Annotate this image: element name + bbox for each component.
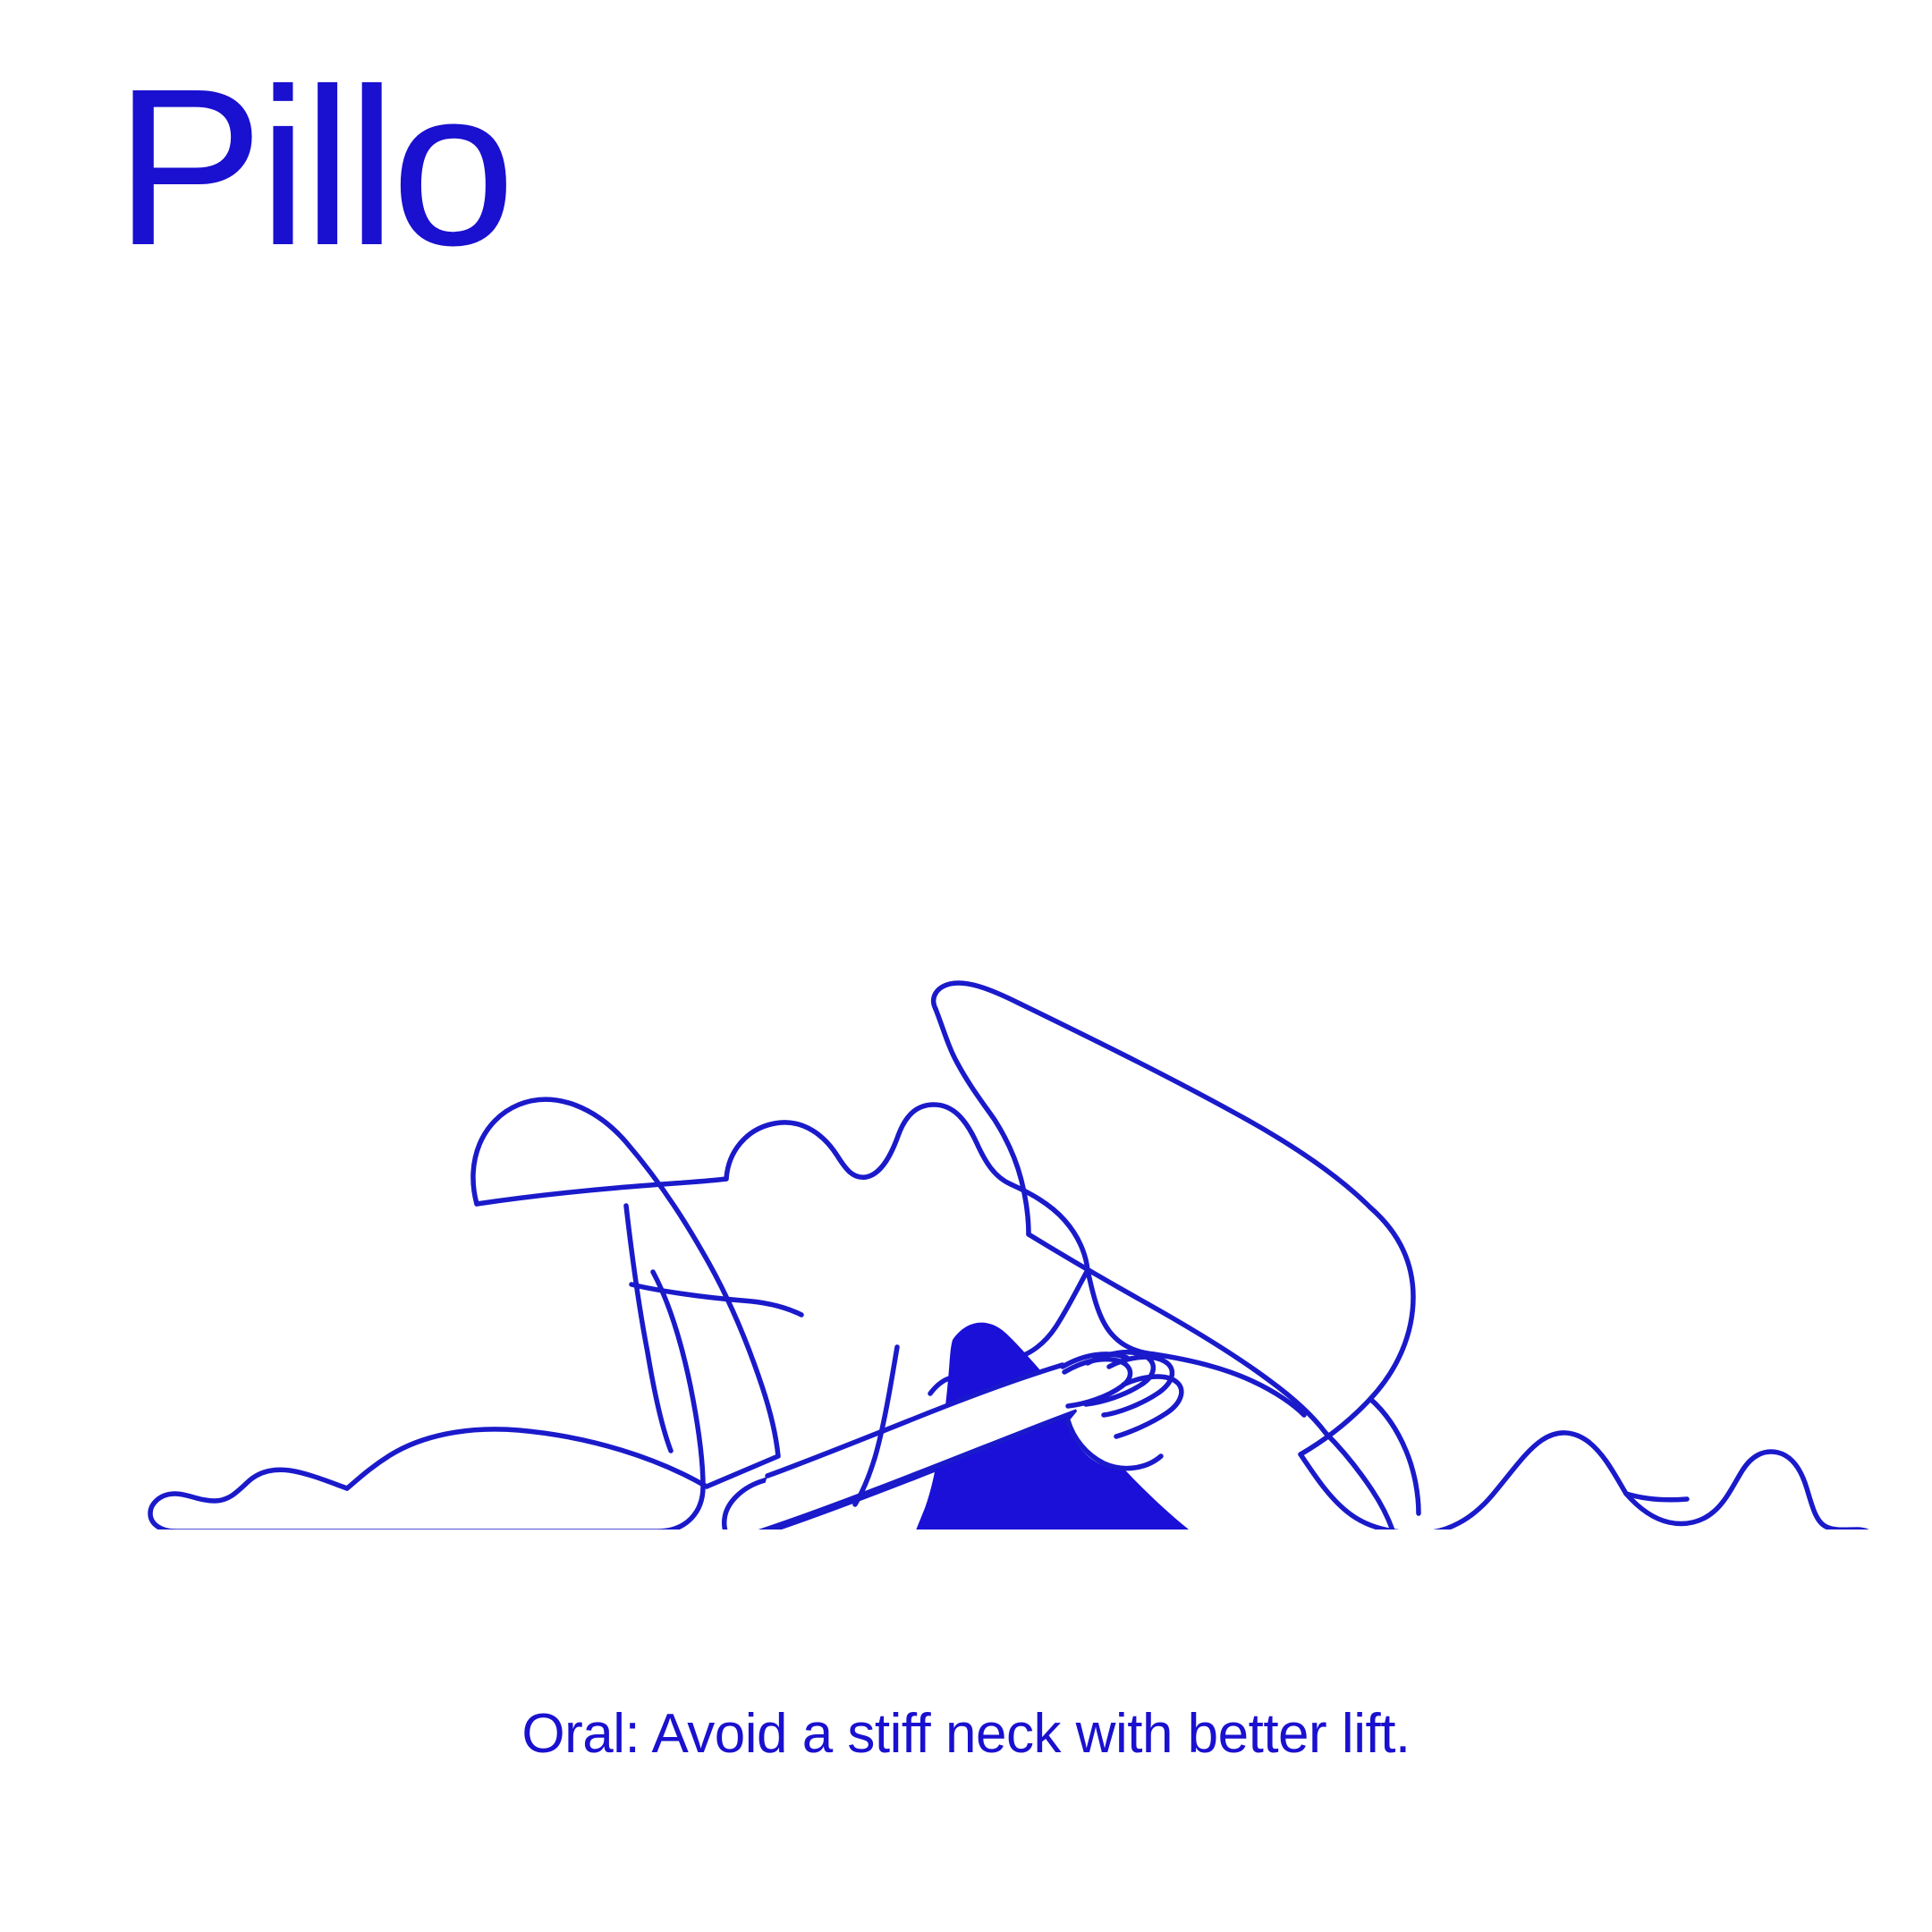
left-figure-shoulder-line	[477, 1179, 726, 1204]
left-figure-ground-line	[175, 1272, 703, 1529]
right-foot	[1626, 1452, 1878, 1529]
right-figure-knee	[1420, 1433, 1626, 1529]
illustration-container	[0, 921, 1932, 1529]
left-figure-arm-inner	[626, 1206, 671, 1451]
page-root: Pillo	[0, 0, 1932, 1932]
left-figure-rib-accent	[631, 1284, 801, 1315]
oral-position-line-illustration	[0, 921, 1932, 1529]
caption-text: Oral: Avoid a stiff neck with better lif…	[0, 1704, 1932, 1765]
middle-figure-shoulder	[1088, 1270, 1154, 1354]
middle-figure-head-and-neck	[726, 1105, 1011, 1184]
right-figure-lower-back	[1326, 1433, 1394, 1529]
raised-leg-calf-contour	[936, 1009, 1029, 1234]
right-ankle-accent	[1626, 1494, 1687, 1500]
right-figure-thigh	[1301, 1454, 1420, 1529]
brand-wordmark: Pillo	[114, 55, 510, 279]
left-foot	[150, 1470, 347, 1529]
left-figure-lower-leg	[347, 1429, 707, 1488]
raised-leg-knee-and-thigh	[1301, 1207, 1413, 1454]
middle-figure-jaw-line	[1011, 1184, 1088, 1270]
